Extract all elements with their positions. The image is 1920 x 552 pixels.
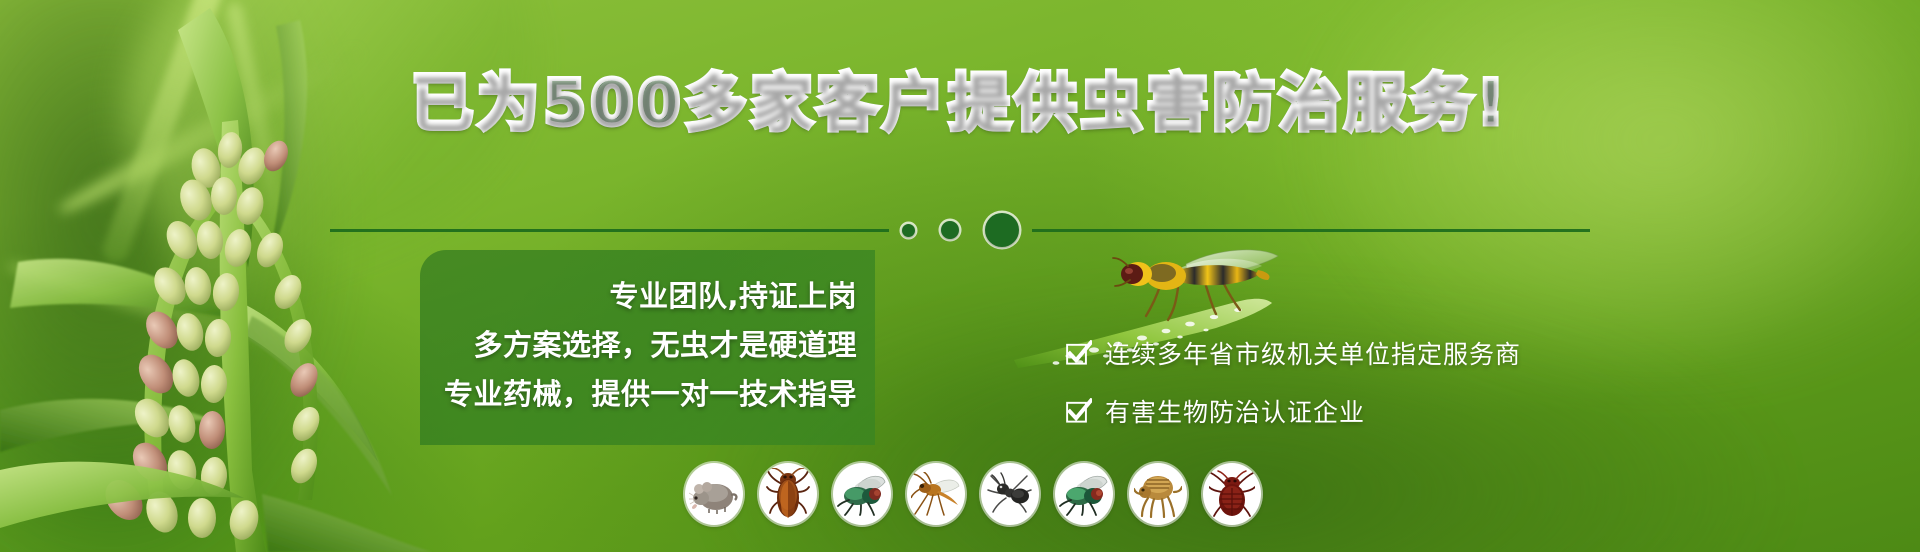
checkbox-checked-icon <box>1065 340 1092 367</box>
divider-line-left <box>330 229 889 232</box>
flea-icon[interactable] <box>1129 463 1187 525</box>
panel-line-1: 专业团队,持证上岗 <box>609 274 857 319</box>
list-item: 连续多年省市级机关单位指定服务商 <box>1065 335 1685 371</box>
medium-dot-icon <box>941 221 959 239</box>
checkbox-checked-icon <box>1065 398 1092 425</box>
bullet-label: 有害生物防治认证企业 <box>1105 393 1365 429</box>
rodent-icon[interactable] <box>685 463 743 525</box>
banner-headline-text: 已为500多家客户提供虫害防治服务! <box>411 66 1509 139</box>
bullet-label: 连续多年省市级机关单位指定服务商 <box>1105 335 1521 371</box>
banner-headline: 已为500多家客户提供虫害防治服务! <box>0 70 1920 135</box>
panel-line-2: 多方案选择，无虫才是硬道理 <box>473 323 857 368</box>
list-item: 有害生物防治认证企业 <box>1065 393 1685 429</box>
mosquito-icon[interactable] <box>907 463 965 525</box>
housefly-icon[interactable] <box>833 463 891 525</box>
certification-bullet-list: 连续多年省市级机关单位指定服务商 有害生物防治认证企业 <box>1065 335 1685 451</box>
small-dot-icon <box>902 224 915 237</box>
pest-icon-strip <box>685 463 1261 525</box>
decorative-divider <box>330 215 1590 245</box>
panel-line-3: 专业药械，提供一对一技术指导 <box>444 372 857 417</box>
cockroach-icon[interactable] <box>759 463 817 525</box>
pest-control-hero-banner: 已为500多家客户提供虫害防治服务! 专业团队,持证上岗 多方案选择，无虫才是硬… <box>0 0 1920 552</box>
blowfly-icon[interactable] <box>1055 463 1113 525</box>
bedbug-icon[interactable] <box>1203 463 1261 525</box>
selling-points-panel: 专业团队,持证上岗 多方案选择，无虫才是硬道理 专业药械，提供一对一技术指导 <box>420 250 875 445</box>
ant-icon[interactable] <box>981 463 1039 525</box>
divider-line-right <box>1032 229 1591 232</box>
